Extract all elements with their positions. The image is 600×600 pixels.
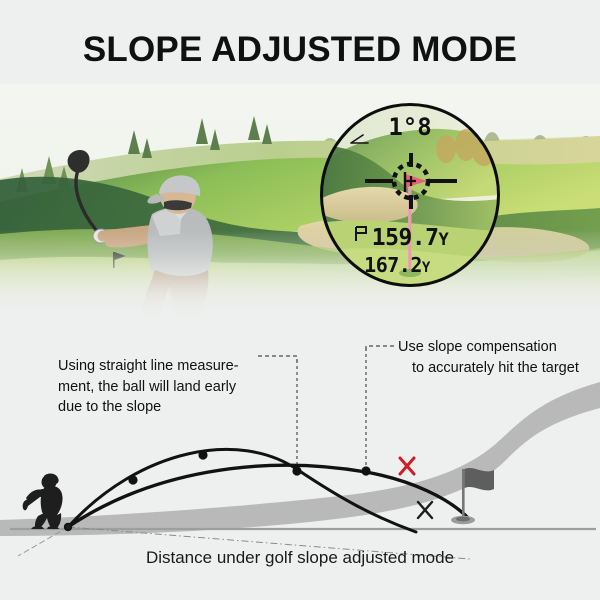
page-title: SLOPE ADJUSTED MODE: [0, 30, 600, 70]
miss-marker-x: [400, 458, 414, 474]
leader-lines: [297, 348, 366, 471]
rangefinder-viewfinder: 1°8 159.7Y 167.2Y: [320, 103, 500, 287]
trajectory-point: [198, 450, 207, 459]
scope-ring: [320, 103, 500, 287]
trajectory-point: [128, 475, 137, 484]
diagram-caption: Distance under golf slope adjusted mode: [0, 548, 600, 568]
trajectory-diagram: [0, 330, 600, 560]
landing-marker-x: [418, 502, 432, 518]
page-root: SLOPE ADJUSTED MODE: [0, 0, 600, 600]
trajectory-point: [292, 466, 301, 475]
trajectory-point: [361, 466, 370, 475]
golf-course-photo: [0, 84, 600, 324]
